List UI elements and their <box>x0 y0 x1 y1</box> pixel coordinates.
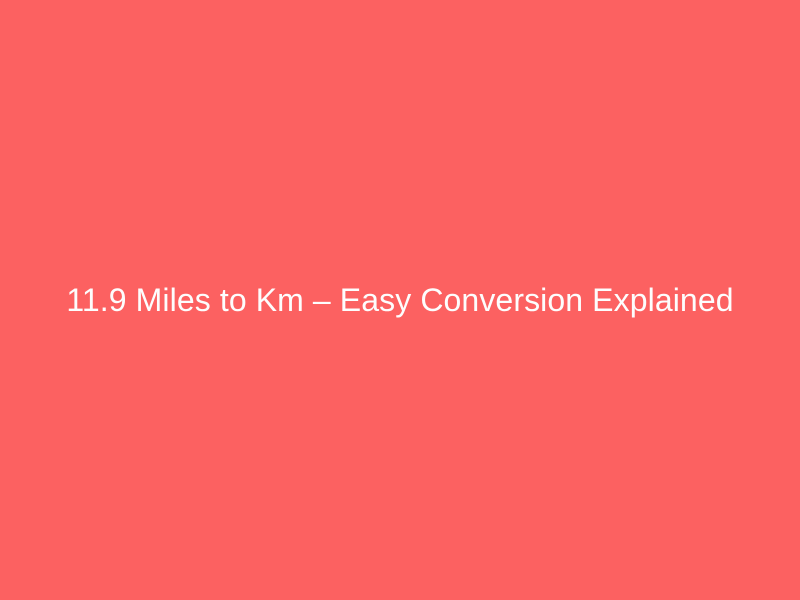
share-card-canvas: 11.9 Miles to Km – Easy Conversion Expla… <box>0 0 800 600</box>
card-title: 11.9 Miles to Km – Easy Conversion Expla… <box>50 281 750 319</box>
